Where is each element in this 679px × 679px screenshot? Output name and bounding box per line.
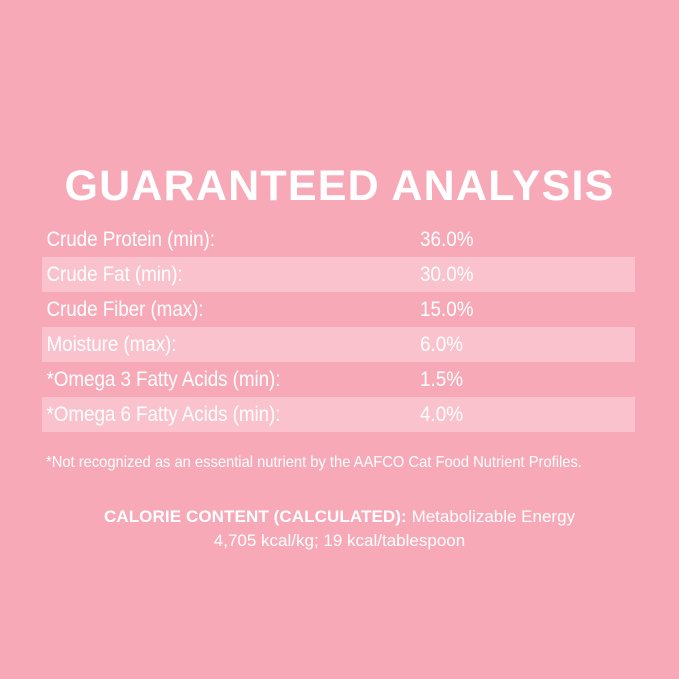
nutrient-label: *Omega 3 Fatty Acids (min): xyxy=(42,368,382,392)
table-row: *Omega 6 Fatty Acids (min):4.0% xyxy=(42,397,635,432)
guaranteed-analysis-table: Crude Protein (min):36.0%Crude Fat (min)… xyxy=(42,222,635,432)
table-row: Crude Fiber (max):15.0% xyxy=(42,292,635,327)
page-title: GUARANTEED ANALYSIS xyxy=(0,163,679,209)
nutrient-label: *Omega 6 Fatty Acids (min): xyxy=(42,403,382,427)
nutrient-value: 36.0% xyxy=(420,228,474,252)
calorie-content-line: CALORIE CONTENT (CALCULATED): Metaboliza… xyxy=(0,505,679,529)
nutrient-value: 6.0% xyxy=(420,333,463,357)
nutrient-label: Crude Fiber (max): xyxy=(42,298,382,322)
nutrient-label: Crude Protein (min): xyxy=(42,228,382,252)
guaranteed-analysis-panel: GUARANTEED ANALYSIS Crude Protein (min):… xyxy=(0,0,679,679)
calorie-content-block: CALORIE CONTENT (CALCULATED): Metaboliza… xyxy=(0,505,679,553)
table-row: Crude Fat (min):30.0% xyxy=(42,257,635,292)
table-row: *Omega 3 Fatty Acids (min):1.5% xyxy=(42,362,635,397)
nutrient-label: Moisture (max): xyxy=(42,333,382,357)
calorie-values: 4,705 kcal/kg; 19 kcal/tablespoon xyxy=(0,529,679,553)
footnote-text: *Not recognized as an essential nutrient… xyxy=(46,452,598,474)
table-row: Crude Protein (min):36.0% xyxy=(42,222,635,257)
calorie-content-label: CALORIE CONTENT (CALCULATED): xyxy=(104,507,407,526)
nutrient-label: Crude Fat (min): xyxy=(42,263,382,287)
calorie-energy-label: Metabolizable Energy xyxy=(412,507,575,526)
nutrient-value: 30.0% xyxy=(420,263,474,287)
nutrient-value: 4.0% xyxy=(420,403,463,427)
table-row: Moisture (max):6.0% xyxy=(42,327,635,362)
nutrient-value: 1.5% xyxy=(420,368,463,392)
nutrient-value: 15.0% xyxy=(420,298,474,322)
